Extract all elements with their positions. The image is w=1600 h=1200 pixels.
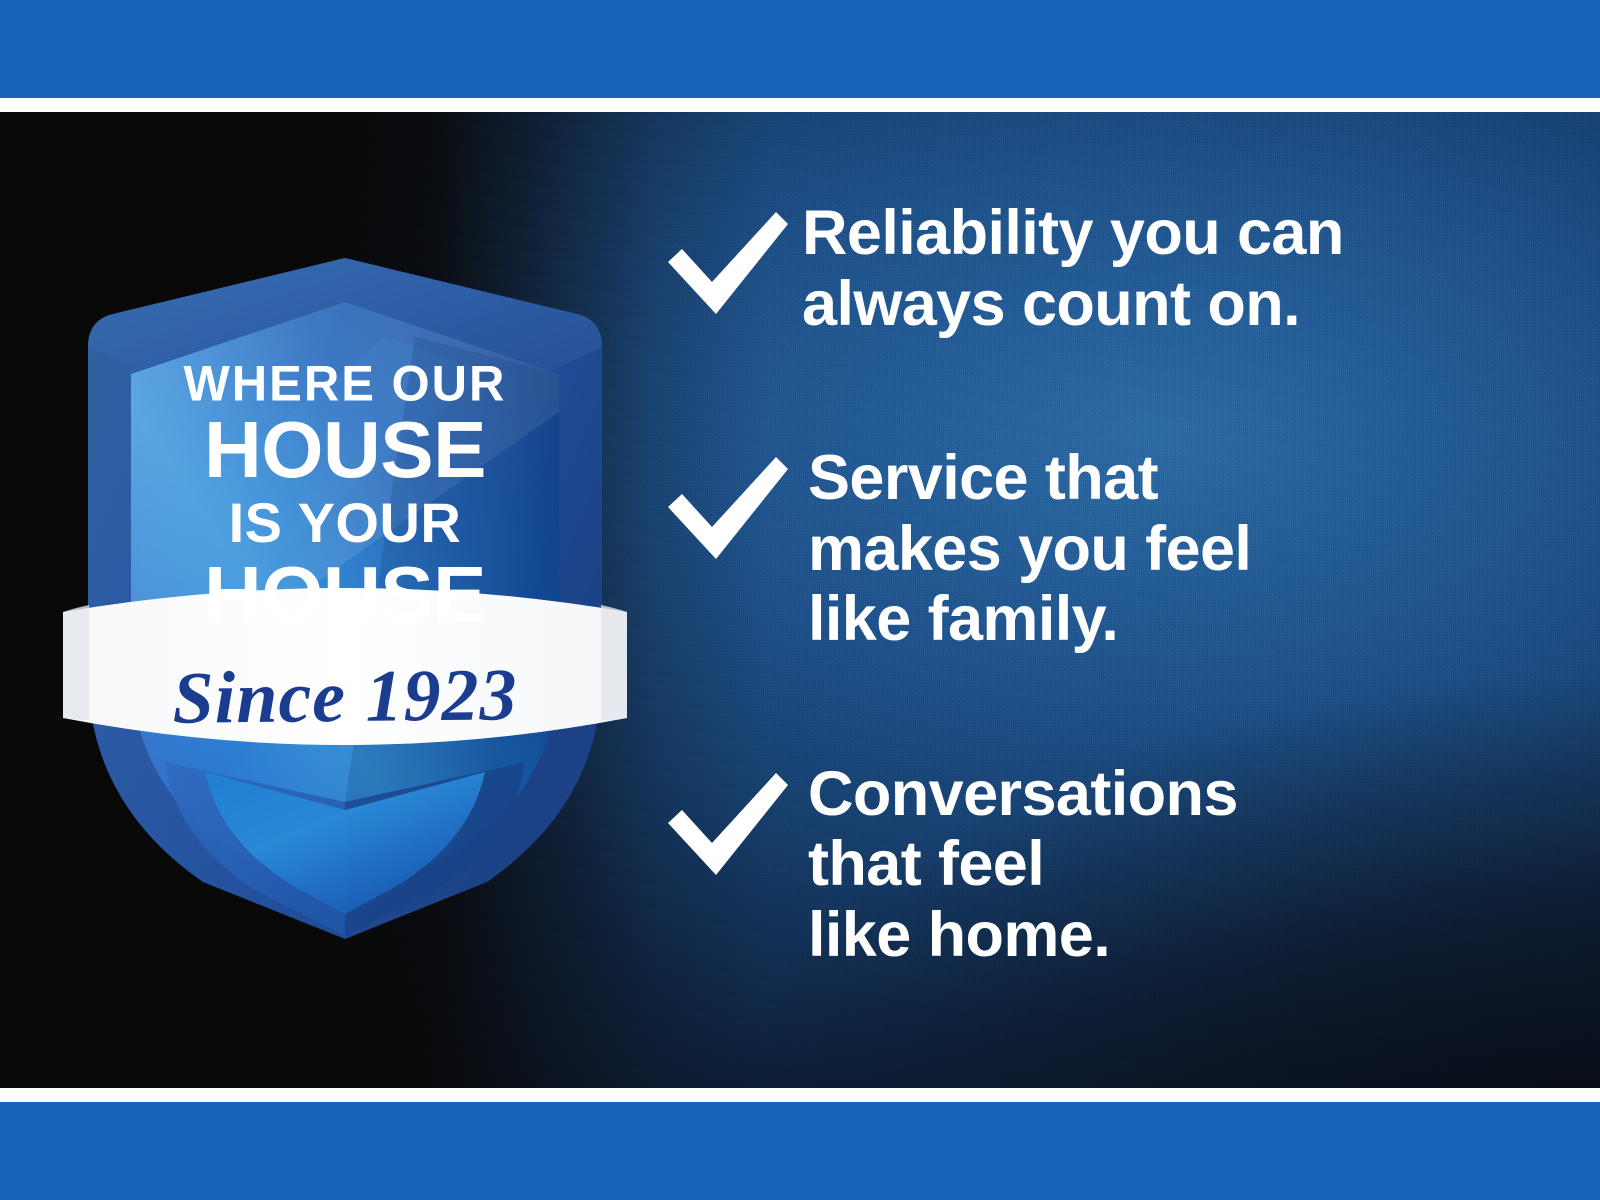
main-stage: Where our House is your House Since 1923… (0, 112, 1600, 1088)
top-brand-bar (0, 0, 1600, 98)
badge-line-house-1: House (55, 410, 635, 490)
benefit-text: Reliability you can always count on. (802, 198, 1344, 339)
badge-line-house-2: House (55, 555, 635, 635)
checkmark-icon (660, 455, 790, 565)
bottom-brand-bar (0, 1102, 1600, 1200)
benefit-item: Service that makes you feel like family. (660, 447, 1560, 655)
bottom-white-divider (0, 1088, 1600, 1102)
badge-since-year: Since 1923 (55, 657, 636, 737)
benefit-item: Conversations that feel like home. (660, 763, 1560, 971)
benefit-text: Conversations that feel like home. (808, 759, 1238, 971)
checkmark-icon (660, 771, 790, 881)
promo-graphic: Where our House is your House Since 1923… (0, 0, 1600, 1200)
benefit-text: Service that makes you feel like family. (808, 443, 1251, 655)
badge-line-is-your: is your (55, 495, 635, 551)
checkmark-icon (660, 210, 790, 320)
shield-badge: Where our House is your House Since 1923 (55, 242, 635, 942)
benefit-item: Reliability you can always count on. (660, 202, 1560, 339)
top-white-divider (0, 98, 1600, 112)
badge-line-where-our: Where our (55, 360, 635, 410)
benefits-list: Reliability you can always count on. Ser… (660, 202, 1560, 970)
